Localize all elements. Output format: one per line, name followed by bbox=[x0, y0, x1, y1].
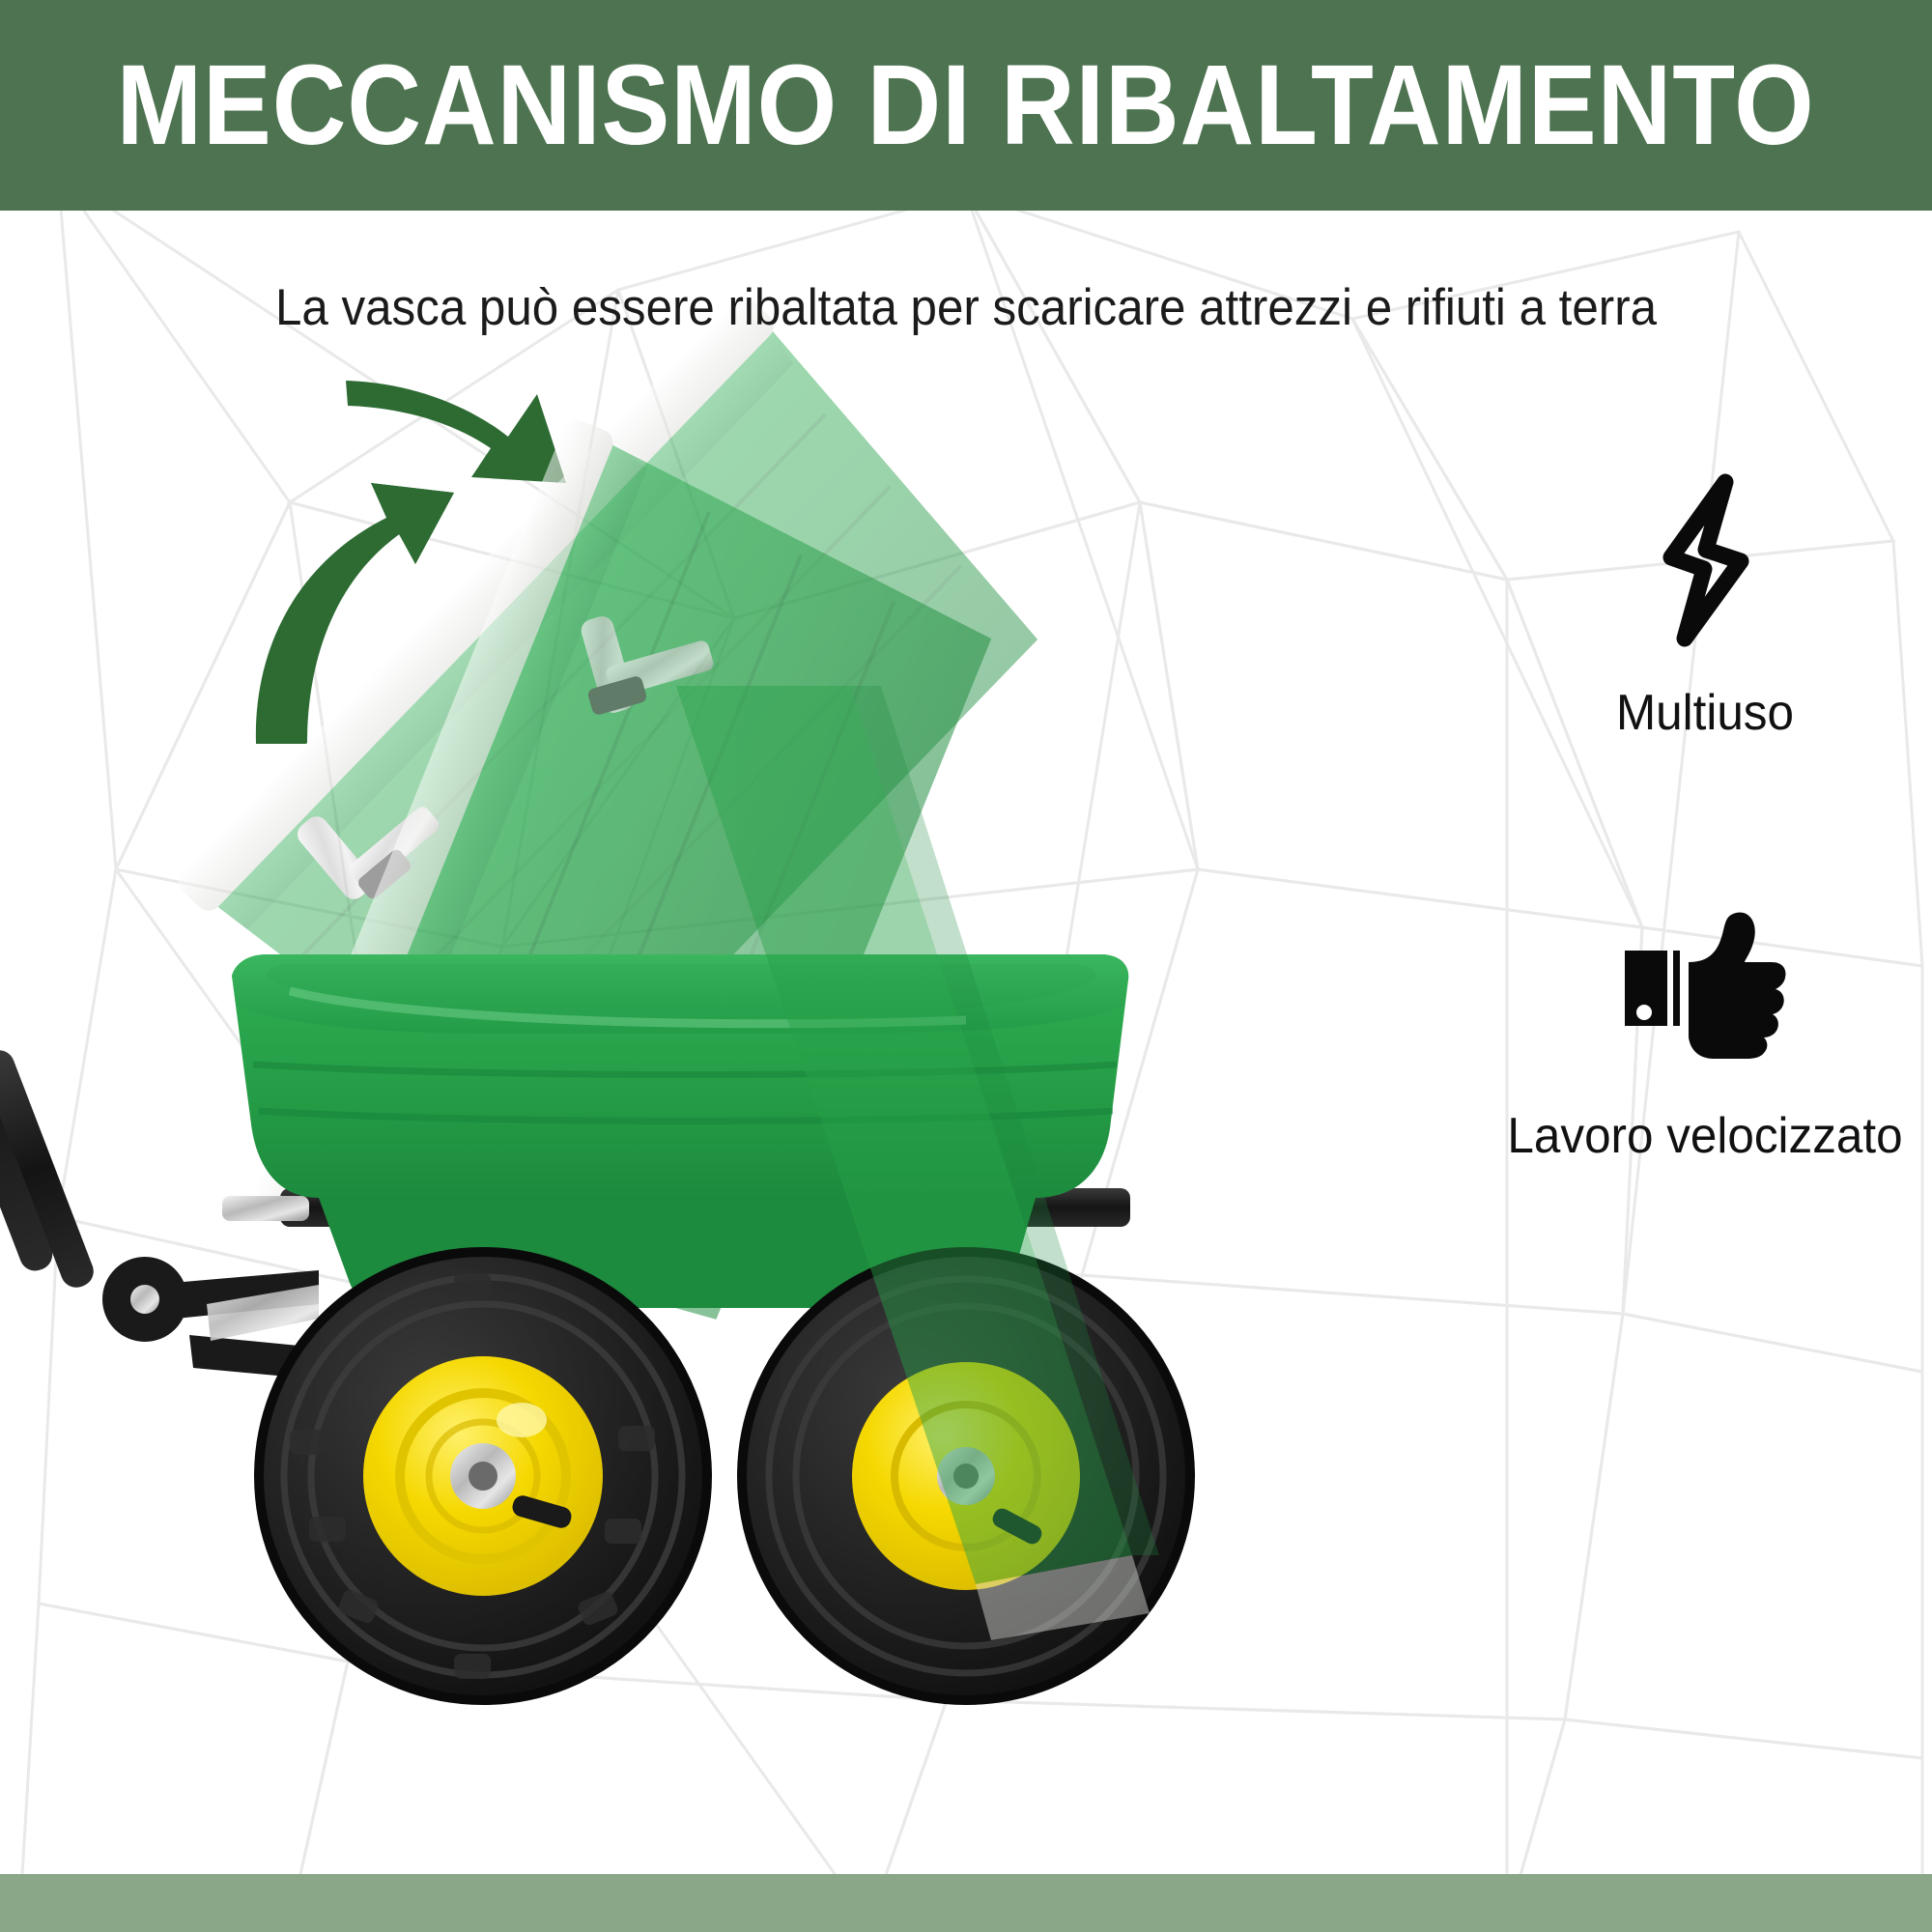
front-wheel bbox=[259, 1252, 707, 1700]
header-banner: MECCANISMO DI RIBALTAMENTO bbox=[0, 0, 1932, 211]
page-title: MECCANISMO DI RIBALTAMENTO bbox=[117, 48, 1815, 162]
product-illustration bbox=[0, 145, 1507, 1884]
feature-label-multiuso: Multiuso bbox=[1490, 684, 1921, 742]
feature-label-lavoro-velocizzato: Lavoro velocizzato bbox=[1490, 1107, 1921, 1165]
feature-item-lavoro-velocizzato: Lavoro velocizzato bbox=[1478, 887, 1932, 1165]
feature-item-multiuso: Multiuso bbox=[1478, 464, 1932, 742]
footer-bar bbox=[0, 1874, 1932, 1932]
thumbs-up-icon bbox=[1478, 887, 1932, 1080]
lightning-bolt-icon bbox=[1478, 464, 1932, 657]
feature-list: Multiuso Lavoro velocizzato bbox=[1478, 464, 1932, 1310]
subtitle-text: La vasca può essere ribaltata per scaric… bbox=[68, 278, 1864, 337]
